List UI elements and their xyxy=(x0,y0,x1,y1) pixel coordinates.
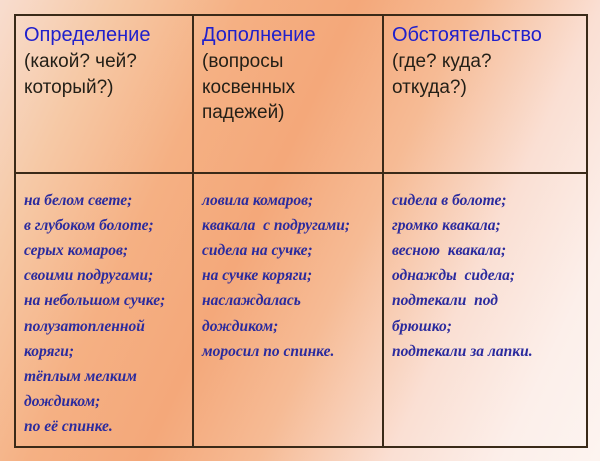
question-line: (где? куда? xyxy=(392,49,578,75)
body-cell-dopolnenie: ловила комаров; квакала с подругами; сид… xyxy=(194,174,384,446)
list-item: брюшко; xyxy=(392,314,578,339)
column-questions-obstoyatelstvo: (где? куда? откуда?) xyxy=(392,49,578,100)
question-line: падежей) xyxy=(202,100,374,126)
list-item: в глубоком болоте; xyxy=(24,213,184,238)
question-line: (какой? чей? xyxy=(24,49,184,75)
list-item: на сучке коряги; xyxy=(202,263,374,288)
list-item: подтекали за лапки. xyxy=(392,339,578,364)
list-item: дождиком; xyxy=(24,389,184,414)
list-item: квакала с подругами; xyxy=(202,213,374,238)
phrase-list-obstoyatelstvo: сидела в болоте; громко квакала; весною … xyxy=(392,180,578,364)
list-item: однажды сидела; xyxy=(392,263,578,288)
list-item: сидела на сучке; xyxy=(202,238,374,263)
list-item: дождиком; xyxy=(202,314,374,339)
body-cell-opredelenie: на белом свете; в глубоком болоте; серых… xyxy=(16,174,194,446)
list-item: полузатопленной xyxy=(24,314,184,339)
list-item: весною квакала; xyxy=(392,238,578,263)
body-cell-obstoyatelstvo: сидела в болоте; громко квакала; весною … xyxy=(384,174,586,446)
header-cell-obstoyatelstvo: Обстоятельство (где? куда? откуда?) xyxy=(384,16,586,172)
slide-canvas: Определение (какой? чей? который?) Допол… xyxy=(0,0,600,461)
column-title-obstoyatelstvo: Обстоятельство xyxy=(392,22,578,49)
table-body-row: на белом свете; в глубоком болоте; серых… xyxy=(16,174,586,446)
list-item: на небольшом сучке; xyxy=(24,288,184,313)
list-item: сидела в болоте; xyxy=(392,188,578,213)
grammar-parts-table: Определение (какой? чей? который?) Допол… xyxy=(14,14,588,448)
question-line: (вопросы xyxy=(202,49,374,75)
header-cell-opredelenie: Определение (какой? чей? который?) xyxy=(16,16,194,172)
list-item: подтекали под xyxy=(392,288,578,313)
column-title-opredelenie: Определение xyxy=(24,22,184,49)
list-item: своими подругами; xyxy=(24,263,184,288)
list-item: серых комаров; xyxy=(24,238,184,263)
list-item: громко квакала; xyxy=(392,213,578,238)
list-item: коряги; xyxy=(24,339,184,364)
list-item: на белом свете; xyxy=(24,188,184,213)
header-cell-dopolnenie: Дополнение (вопросы косвенных падежей) xyxy=(194,16,384,172)
question-line: который?) xyxy=(24,75,184,101)
phrase-list-opredelenie: на белом свете; в глубоком болоте; серых… xyxy=(24,180,184,439)
table-header-row: Определение (какой? чей? который?) Допол… xyxy=(16,16,586,174)
column-title-dopolnenie: Дополнение xyxy=(202,22,374,49)
question-line: косвенных xyxy=(202,75,374,101)
list-item: моросил по спинке. xyxy=(202,339,374,364)
list-item: по её спинке. xyxy=(24,414,184,439)
list-item: тёплым мелким xyxy=(24,364,184,389)
list-item: ловила комаров; xyxy=(202,188,374,213)
column-questions-opredelenie: (какой? чей? который?) xyxy=(24,49,184,100)
phrase-list-dopolnenie: ловила комаров; квакала с подругами; сид… xyxy=(202,180,374,364)
list-item: наслаждалась xyxy=(202,288,374,313)
question-line: откуда?) xyxy=(392,75,578,101)
column-questions-dopolnenie: (вопросы косвенных падежей) xyxy=(202,49,374,126)
